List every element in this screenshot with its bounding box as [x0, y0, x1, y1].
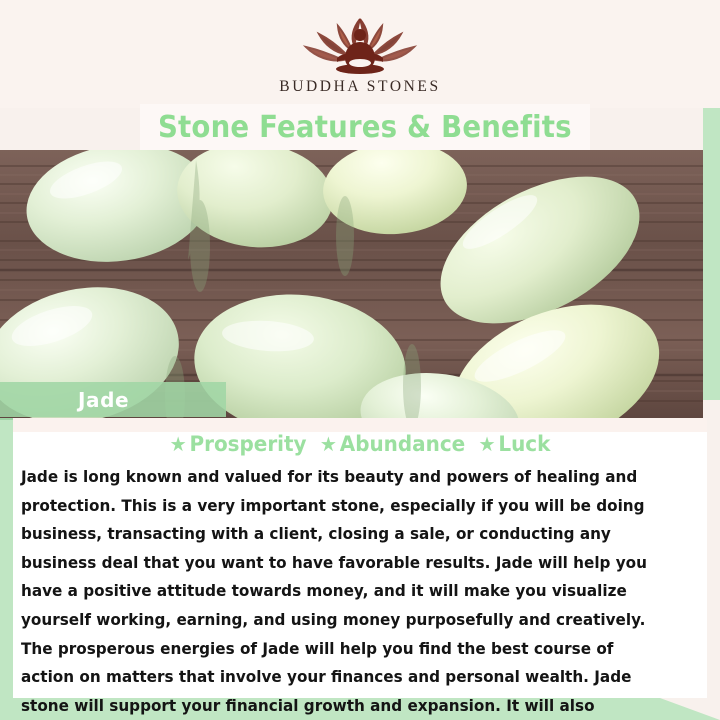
benefit-label: Abundance — [340, 432, 465, 456]
benefit-label: Prosperity — [189, 432, 306, 456]
stone-photo-illustration — [0, 150, 703, 418]
benefit-item: ★Luck — [478, 432, 550, 456]
stone-info-card: BUDDHA STONES Stone Features & Benefits … — [0, 0, 720, 720]
benefit-item: ★Prosperity — [170, 432, 307, 456]
star-icon: ★ — [478, 432, 495, 456]
content-top-fade — [13, 418, 707, 432]
stone-name: Jade — [78, 388, 129, 412]
lotus-meditation-icon — [301, 14, 419, 76]
stone-content-panel: ★Prosperity★Abundance★Luck Jade is long … — [13, 418, 707, 698]
page-title-banner: Stone Features & Benefits — [140, 104, 590, 150]
brand-header: BUDDHA STONES — [0, 0, 720, 108]
page-title: Stone Features & Benefits — [158, 110, 572, 145]
star-icon: ★ — [320, 432, 337, 456]
benefit-label: Luck — [498, 432, 550, 456]
benefit-item: ★Abundance — [320, 432, 465, 456]
stone-name-band: Jade — [0, 382, 226, 417]
stone-description: Jade is long known and valued for its be… — [21, 463, 655, 720]
benefits-list: ★Prosperity★Abundance★Luck — [30, 432, 689, 456]
stone-photo — [0, 150, 703, 418]
brand-name: BUDDHA STONES — [279, 78, 440, 96]
star-icon: ★ — [170, 432, 187, 456]
